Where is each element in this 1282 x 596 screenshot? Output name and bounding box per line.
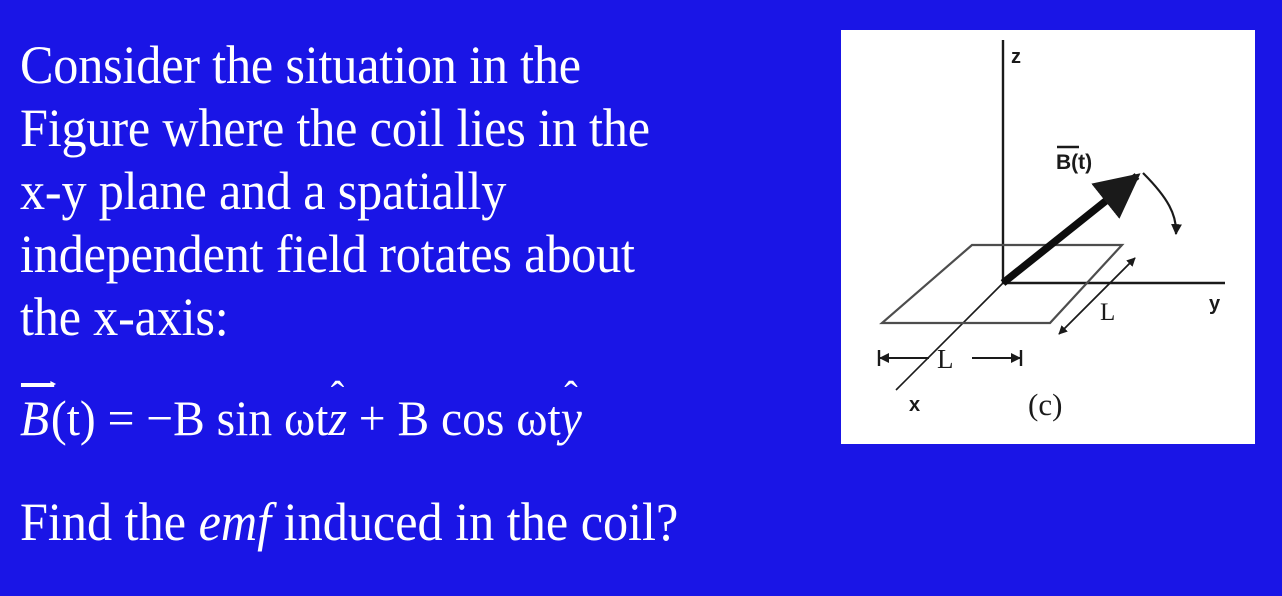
axis-y-label: y (1209, 293, 1221, 315)
equation-equals: = (108, 390, 135, 446)
equation-vector-b-letter: B (20, 390, 49, 446)
equation-term2-unit-vector: ˆy (561, 389, 582, 447)
closing-prefix: Find the (20, 492, 199, 552)
equation-term1-unit-vector: ˆz (328, 389, 346, 447)
dimension-label-diagonal: L (1100, 299, 1115, 326)
equation-term1-amplitude: B (173, 390, 205, 446)
field-label: B(t) (1056, 151, 1092, 174)
field-equation: B(t) = −B sin ωtˆz + B cos ωtˆy (20, 389, 780, 447)
dimension-line-diagonal (1059, 258, 1135, 334)
hat-accent-icon: ˆ (564, 376, 577, 419)
field-vector-arrow (1003, 176, 1137, 283)
figure-panel: z y x B(t) L L (841, 30, 1255, 444)
closing-question: Find the emf induced in the coil? (20, 491, 764, 553)
closing-suffix: induced in the coil? (271, 492, 678, 552)
equation-term1-sign: − (146, 390, 173, 446)
text-column: Consider the situation in the Figure whe… (20, 34, 820, 553)
equation-term2-amplitude: B (397, 390, 429, 446)
equation-term2-function: cos ωt (441, 390, 561, 446)
vector-arrow-icon (21, 383, 54, 387)
equation-plus: + (359, 390, 386, 446)
slide-root: Consider the situation in the Figure whe… (0, 0, 1282, 596)
figure-caption: (c) (1028, 387, 1062, 422)
coil-field-diagram: z y x B(t) L L (841, 30, 1255, 444)
hat-accent-icon: ˆ (331, 376, 344, 419)
equation-argument: (t) (51, 390, 96, 446)
axis-z-label: z (1011, 46, 1021, 68)
closing-emphasis: emf (199, 492, 272, 552)
equation-term1-function: sin ωt (217, 390, 329, 446)
rotation-arrow-icon (1143, 173, 1176, 234)
dimension-label-horizontal: L (937, 344, 954, 374)
equation-vector-b: B (20, 389, 51, 447)
axis-x-label: x (909, 394, 920, 416)
question-paragraph: Consider the situation in the Figure whe… (20, 34, 764, 349)
